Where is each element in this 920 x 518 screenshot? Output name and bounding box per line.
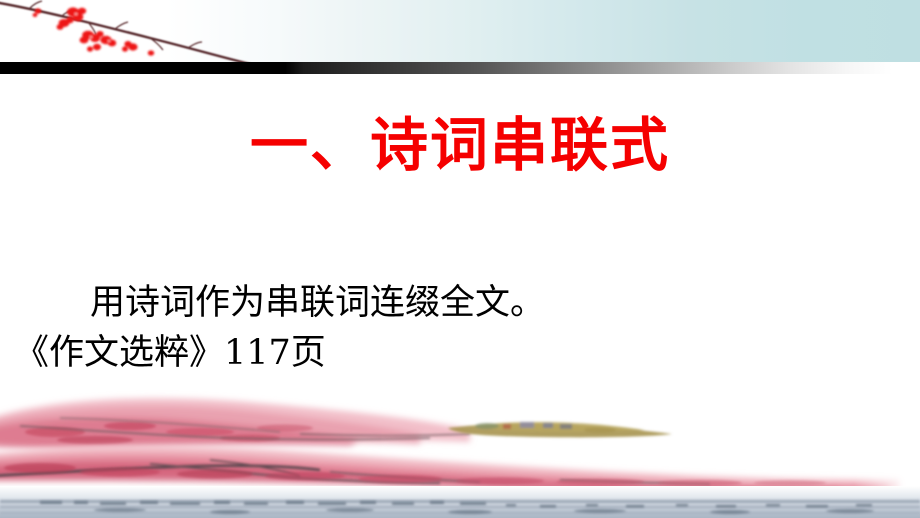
cherry-blossom-landscape-icon — [0, 388, 920, 518]
slide-canvas: 一、诗词串联式 用诗词作为串联词连缀全文。 《作文选粹》117页 — [0, 0, 920, 518]
header-rule-bar — [0, 62, 920, 74]
body-text-block: 用诗词作为串联词连缀全文。 《作文选粹》117页 — [14, 278, 894, 378]
body-line-1: 用诗词作为串联词连缀全文。 — [14, 278, 894, 328]
page-title: 一、诗词串联式 — [0, 112, 920, 178]
body-line-2: 《作文选粹》117页 — [14, 328, 894, 378]
header-band — [0, 0, 920, 62]
